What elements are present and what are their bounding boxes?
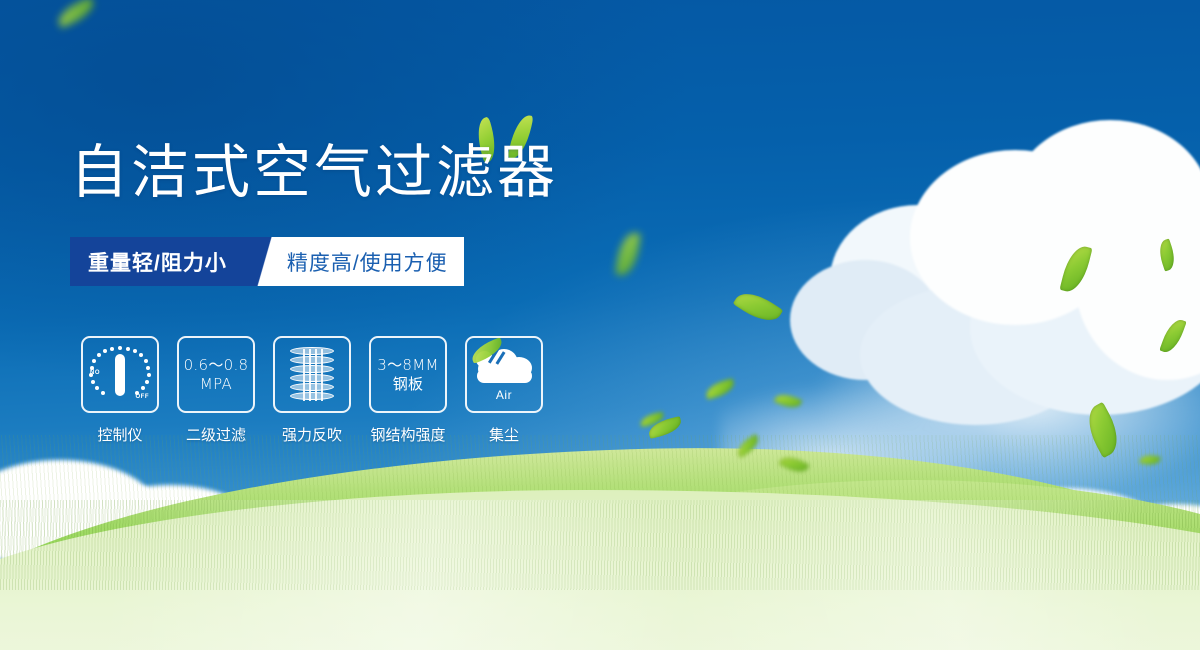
feature-label: 集尘 (489, 424, 519, 445)
subtitle-bar: 重量轻/阻力小 精度高/使用方便 (70, 237, 464, 286)
feature-list: NO OFF 控制仪 0.6～0.8 MPA 二级过滤 (81, 336, 543, 445)
feature-icon-box (273, 336, 351, 413)
subtitle-right: 精度高/使用方便 (283, 237, 464, 286)
feature-item-steel-strength[interactable]: 3～8MM 钢板 钢结构强度 (369, 336, 447, 445)
product-hero-banner: 自洁式空气过滤器 重量轻/阻力小 精度高/使用方便 (0, 0, 1200, 650)
feature-item-secondary-filter[interactable]: 0.6～0.8 MPA 二级过滤 (177, 336, 255, 445)
feature-item-controller[interactable]: NO OFF 控制仪 (81, 336, 159, 445)
feature-icon-box: NO OFF (81, 336, 159, 413)
feature-item-backblow[interactable]: 强力反吹 (273, 336, 351, 445)
feature-label: 控制仪 (97, 424, 142, 445)
feature-icon-line1: 3～8MM (377, 356, 438, 374)
grass-light-sheen (0, 500, 1200, 650)
coil-filter-icon (289, 347, 335, 403)
gauge-label-no: NO (90, 370, 100, 376)
feature-label: 二级过滤 (186, 424, 246, 445)
gauge-dial-icon: NO OFF (89, 346, 151, 404)
feature-label: 钢结构强度 (370, 424, 445, 445)
cloud-air-label: Air (496, 388, 512, 402)
subtitle-divider-slash (249, 237, 283, 286)
feature-item-dust-collection[interactable]: Air 集尘 (465, 336, 543, 445)
page-title: 自洁式空气过滤器 (70, 142, 558, 203)
feature-icon-box: 3～8MM 钢板 (369, 336, 447, 413)
cloud-air-icon (474, 347, 534, 387)
feature-label: 强力反吹 (282, 424, 342, 445)
feature-icon-line1: 0.6～0.8 (184, 356, 249, 374)
feature-icon-line2: 钢板 (393, 375, 424, 393)
grass-field (0, 410, 1200, 650)
feature-icon-line2: MPA (200, 375, 232, 393)
feature-icon-box: 0.6～0.8 MPA (177, 336, 255, 413)
feature-icon-box: Air (465, 336, 543, 413)
cloud-large-right (820, 110, 1200, 430)
subtitle-left: 重量轻/阻力小 (70, 237, 249, 286)
gauge-label-off: OFF (136, 394, 150, 400)
